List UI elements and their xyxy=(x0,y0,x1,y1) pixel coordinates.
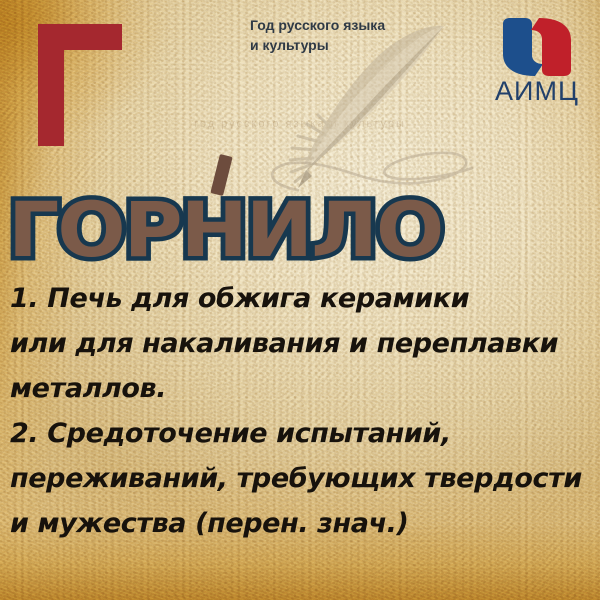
campaign-caption-line2: и культуры xyxy=(250,36,400,56)
headword-text: ГОРНИЛО xyxy=(8,192,442,268)
aimc-logo-wordmark: АИМЦ xyxy=(487,76,587,107)
campaign-caption: Год русского языка и культуры xyxy=(250,16,400,56)
aimc-logo-mark-icon xyxy=(501,18,573,76)
definition-line: 1. Печь для обжига керамики xyxy=(10,276,596,321)
definition-line: металлов. xyxy=(10,366,596,411)
definition-line: или для накаливания и переплавки xyxy=(10,321,596,366)
aimc-logo[interactable]: АИМЦ xyxy=(487,18,587,110)
definition-line: 2. Средоточение испытаний, xyxy=(10,411,596,456)
word-of-the-day-card: год русского языка и культуры xyxy=(0,0,600,600)
headword-block: ГОРНИЛО xyxy=(8,150,428,260)
definition-line: и мужества (перен. знач.) xyxy=(10,501,596,546)
definition-line: переживаний, требующих твердости xyxy=(10,456,596,501)
campaign-caption-line1: Год русского языка xyxy=(250,16,400,36)
initial-letter-g xyxy=(38,24,122,146)
definitions-block: 1. Печь для обжига керамики или для нака… xyxy=(10,276,596,546)
